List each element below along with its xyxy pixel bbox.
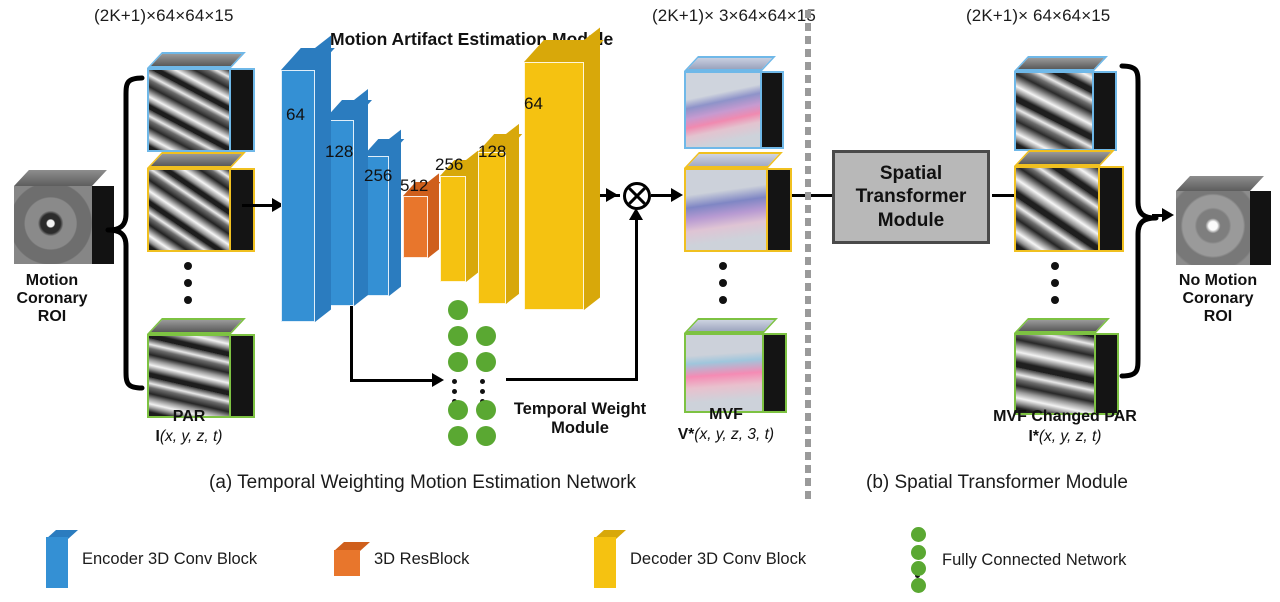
encoder-label-256: 256 (364, 166, 392, 186)
decoder-block-256 (440, 176, 466, 282)
decoder-label-64: 64 (524, 94, 543, 114)
mvf-changed-par-math-notation: I*(x, y, z, t) (1005, 428, 1125, 447)
dimension-label-input-par: (2K+1)×64×64×15 (94, 6, 234, 26)
figure-canvas: (2K+1)×64×64×15 (2K+1)× 3×64×64×15 (2K+1… (0, 0, 1280, 602)
par-math-notation: I(x, y, z, t) (129, 428, 249, 447)
skip-path-horizontal (350, 379, 434, 382)
par-label: PAR (139, 408, 239, 426)
fcn-output-horizontal (506, 378, 638, 381)
legend-item-fcn: Fully Connected Network (910, 527, 1126, 593)
mvf-ellipsis (719, 262, 727, 313)
decoder-label-256: 256 (435, 155, 463, 175)
resblock-swatch-icon (334, 542, 360, 576)
legend-item-resblock: 3D ResBlock (334, 542, 469, 576)
caption-b: (b) Spatial Transformer Module (866, 472, 1128, 494)
output-par-ellipsis (1051, 262, 1059, 313)
caption-a: (a) Temporal Weighting Motion Estimation… (209, 472, 636, 494)
fcn-swatch-icon (910, 527, 928, 593)
legend-label-resblock: 3D ResBlock (374, 550, 469, 569)
legend-label-decoder: Decoder 3D Conv Block (630, 550, 806, 569)
encoder-label-128: 128 (325, 142, 353, 162)
spatial-transformer-module-label: Spatial Transformer Module (856, 162, 967, 232)
output-grouping-brace (1120, 62, 1160, 382)
encoder-swatch-icon (46, 530, 68, 588)
decoder-to-multiply-head (606, 188, 618, 202)
encoder-label-64: 64 (286, 105, 305, 125)
arrow-par-to-encoder-line (242, 204, 274, 207)
dimension-label-mvf: (2K+1)× 3×64×64×15 (652, 6, 816, 26)
section-divider (805, 10, 811, 500)
input-par-ellipsis (184, 262, 192, 313)
dimension-label-output-par: (2K+1)× 64×64×15 (966, 6, 1110, 26)
multiply-to-mvf-head (671, 188, 683, 202)
mvf-changed-par-label: MVF Changed PAR (975, 408, 1155, 426)
skip-path-arrowhead (432, 373, 444, 387)
input-grouping-brace (104, 74, 144, 394)
decoder-swatch-icon (594, 530, 616, 588)
temporal-weight-module-label: Temporal Weight Module (500, 400, 660, 438)
decoder-label-128: 128 (478, 142, 506, 162)
mvf-label: MVF (676, 406, 776, 424)
no-motion-coronary-roi-label: No Motion Coronary ROI (1156, 272, 1280, 326)
legend-label-fcn: Fully Connected Network (942, 551, 1126, 570)
mvf-math-notation: V*(x, y, z, 3, t) (656, 426, 796, 445)
resblock-label-512: 512 (400, 176, 428, 196)
brace-to-no-motion-head (1162, 208, 1174, 222)
skip-path-vertical (350, 296, 353, 382)
elementwise-multiply-operator (623, 182, 651, 210)
legend-label-encoder: Encoder 3D Conv Block (82, 550, 257, 569)
spatial-transformer-module-box: Spatial Transformer Module (832, 150, 990, 244)
legend-item-decoder: Decoder 3D Conv Block (594, 530, 806, 588)
decoder-block-128 (478, 152, 506, 304)
legend-item-encoder: Encoder 3D Conv Block (46, 530, 257, 588)
motion-coronary-roi-label: Motion Coronary ROI (0, 272, 104, 326)
resblock-block-512 (403, 196, 428, 258)
fcn-output-vertical (635, 218, 638, 380)
